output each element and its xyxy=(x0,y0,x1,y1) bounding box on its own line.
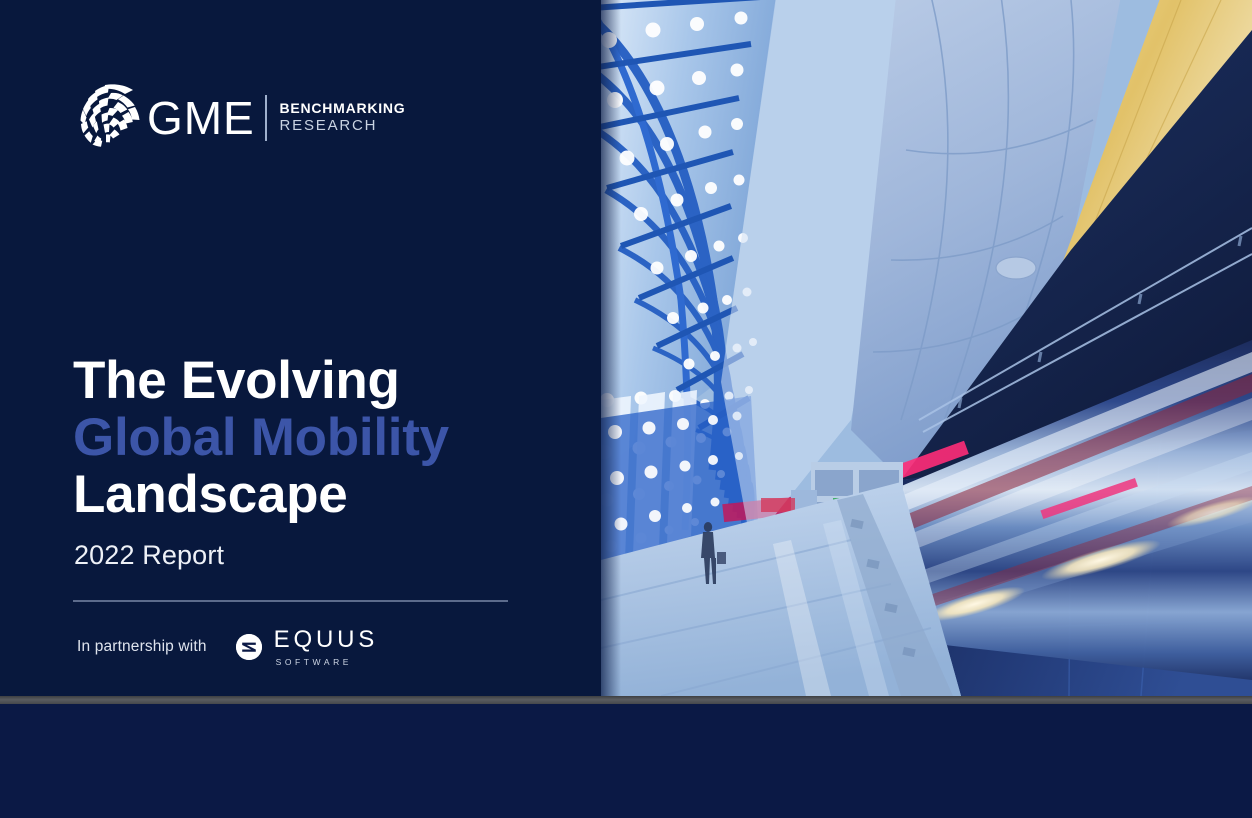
equus-circle-icon xyxy=(236,634,262,660)
hero-section: GME BENCHMARKING RESEARCH The Evolving G… xyxy=(0,0,1252,696)
gme-wordmark: GME BENCHMARKING RESEARCH xyxy=(147,95,405,141)
page-title-line2: Global Mobility xyxy=(73,409,449,466)
report-cover-page: GME BENCHMARKING RESEARCH The Evolving G… xyxy=(0,0,1252,818)
gme-letters: GME xyxy=(147,95,255,141)
equus-wordmark: EQUUS SOFTWARE xyxy=(274,628,379,667)
page-title-line3: Landscape xyxy=(73,466,449,523)
gme-sublabel: BENCHMARKING RESEARCH xyxy=(280,101,406,133)
report-year: 2022 Report xyxy=(74,540,224,571)
footer-bar: GME BENCHMARKING RESEARCH GME Report 202… xyxy=(0,704,1252,818)
partnership-row: In partnership with EQUUS SOFTWARE xyxy=(77,628,378,667)
cover-photo: city · ndr · bhf xyxy=(601,0,1252,696)
gme-sublabel-line1: BENCHMARKING xyxy=(280,101,406,116)
equus-logo-hero: EQUUS SOFTWARE xyxy=(236,628,379,667)
page-title: The Evolving Global Mobility Landscape xyxy=(73,352,449,523)
gme-sublabel-line2: RESEARCH xyxy=(280,118,406,134)
separator-strip xyxy=(0,696,1252,704)
gme-logo-header: GME BENCHMARKING RESEARCH xyxy=(75,82,405,153)
page-title-line1: The Evolving xyxy=(73,352,449,409)
partnership-label: In partnership with xyxy=(77,638,207,656)
horizontal-divider xyxy=(73,600,508,602)
logo-divider xyxy=(265,95,267,141)
equus-name: EQUUS xyxy=(274,628,379,652)
checkered-globe-icon xyxy=(75,82,147,153)
hero-left-panel: GME BENCHMARKING RESEARCH The Evolving G… xyxy=(0,0,601,696)
equus-tagline: SOFTWARE xyxy=(276,658,379,667)
